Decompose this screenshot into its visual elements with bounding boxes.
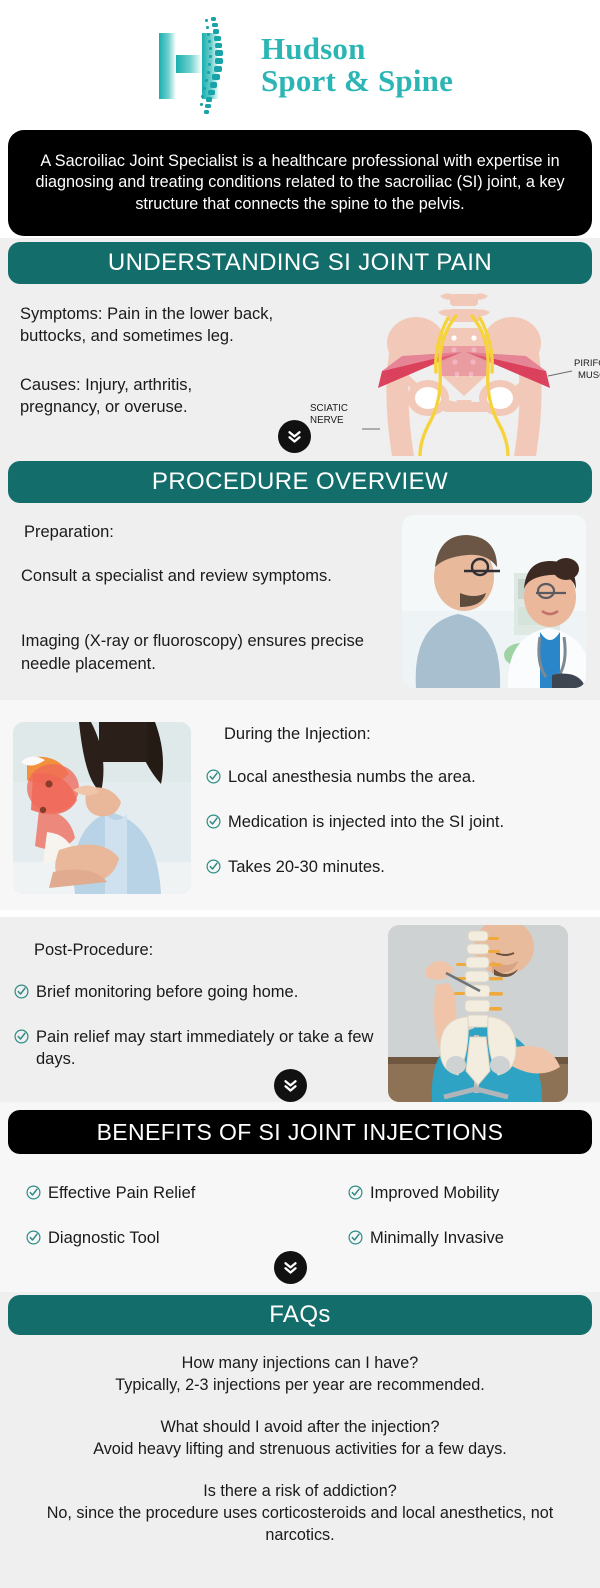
- section-header-procedure: PROCEDURE OVERVIEW: [8, 461, 592, 503]
- faq-entry-1: How many injections can I have? Typicall…: [0, 1352, 600, 1396]
- during-injection-item-1: Local anesthesia numbs the area.: [206, 766, 594, 788]
- intro-text: A Sacroiliac Joint Specialist is a healt…: [24, 151, 576, 216]
- during-injection-item-2: Medication is injected into the SI joint…: [206, 811, 594, 833]
- post-procedure-heading: Post-Procedure:: [34, 939, 153, 962]
- section-header-faqs: FAQs: [8, 1295, 592, 1335]
- label-sciatic-line2: NERVE: [310, 415, 348, 427]
- section-title: UNDERSTANDING SI JOINT PAIN: [108, 249, 492, 277]
- circled-check-icon: [14, 1029, 29, 1044]
- symptoms-line-1: Symptoms: Pain in the lower back,: [20, 303, 370, 326]
- item-label: Local anesthesia numbs the area.: [228, 766, 476, 788]
- causes-line-1: Causes: Injury, arthritis,: [20, 374, 370, 397]
- pelvis-anatomy-diagram: PIRIFORMIS MUSCLE: [362, 288, 600, 456]
- item-label: Takes 20-30 minutes.: [228, 856, 385, 878]
- item-label: Diagnostic Tool: [48, 1227, 160, 1249]
- section-title: BENEFITS OF SI JOINT INJECTIONS: [97, 1119, 504, 1146]
- label-piriformis-line2: MUSCLE: [578, 370, 600, 381]
- circled-check-icon: [206, 769, 221, 784]
- brand-line-1: Hudson: [261, 33, 453, 65]
- item-label: Pain relief may start immediately or tak…: [36, 1026, 386, 1070]
- during-injection-heading: During the Injection:: [224, 723, 371, 746]
- label-piriformis-line1: PIRIFORMIS: [574, 358, 600, 369]
- label-sciatic-nerve: SCIATIC NERVE: [310, 403, 348, 427]
- circled-check-icon: [348, 1185, 363, 1200]
- item-label: Effective Pain Relief: [48, 1182, 195, 1204]
- scroll-down-arrow-3[interactable]: [274, 1251, 307, 1284]
- post-procedure-item-2: Pain relief may start immediately or tak…: [14, 1026, 386, 1070]
- intro-card: A Sacroiliac Joint Specialist is a healt…: [8, 130, 592, 236]
- circled-check-icon: [348, 1230, 363, 1245]
- post-procedure-item-1: Brief monitoring before going home.: [14, 981, 386, 1003]
- scroll-down-arrow-1[interactable]: [278, 420, 311, 453]
- faq-answer: No, since the procedure uses corticoster…: [0, 1502, 600, 1546]
- spine-h-logo-icon: [147, 15, 257, 115]
- faq-answer: Typically, 2-3 injections per year are r…: [0, 1374, 600, 1396]
- circled-check-icon: [26, 1185, 41, 1200]
- doctor-patient-consultation-photo: [402, 515, 586, 688]
- faq-entry-3: Is there a risk of addiction? No, since …: [0, 1480, 600, 1546]
- section-title: FAQs: [269, 1301, 331, 1329]
- doctor-pointing-joint-model-photo: [13, 722, 191, 894]
- benefit-item-4: Minimally Invasive: [348, 1227, 598, 1249]
- section-header-understanding: UNDERSTANDING SI JOINT PAIN: [8, 242, 592, 284]
- faq-question: How many injections can I have?: [0, 1352, 600, 1374]
- circled-check-icon: [14, 984, 29, 999]
- preparation-paragraph-2: Imaging (X-ray or fluoroscopy) ensures p…: [21, 630, 393, 676]
- faq-question: Is there a risk of addiction?: [0, 1480, 600, 1502]
- scroll-down-arrow-2[interactable]: [274, 1069, 307, 1102]
- infographic-page: Hudson Sport & Spine A Sacroiliac Joint …: [0, 0, 600, 1588]
- item-label: Improved Mobility: [370, 1182, 499, 1204]
- faq-entry-2: What should I avoid after the injection?…: [0, 1416, 600, 1460]
- section-header-benefits: BENEFITS OF SI JOINT INJECTIONS: [8, 1110, 592, 1154]
- label-sciatic-line1: SCIATIC: [310, 403, 348, 415]
- circled-check-icon: [206, 859, 221, 874]
- benefit-item-3: Diagnostic Tool: [26, 1227, 296, 1249]
- item-label: Brief monitoring before going home.: [36, 981, 298, 1003]
- faq-answer: Avoid heavy lifting and strenuous activi…: [0, 1438, 600, 1460]
- circled-check-icon: [26, 1230, 41, 1245]
- during-injection-item-3: Takes 20-30 minutes.: [206, 856, 594, 878]
- spine-model-demonstration-photo: [388, 925, 568, 1102]
- logo-header: Hudson Sport & Spine: [0, 0, 600, 130]
- symptoms-line-2: buttocks, and sometimes leg.: [20, 325, 370, 348]
- preparation-heading: Preparation:: [24, 521, 364, 544]
- item-label: Medication is injected into the SI joint…: [228, 811, 504, 833]
- faq-question: What should I avoid after the injection?: [0, 1416, 600, 1438]
- brand-line-2: Sport & Spine: [261, 65, 453, 97]
- benefit-item-1: Effective Pain Relief: [26, 1182, 296, 1204]
- section-title: PROCEDURE OVERVIEW: [152, 468, 448, 496]
- brand-wordmark: Hudson Sport & Spine: [261, 33, 453, 96]
- brand-logo: Hudson Sport & Spine: [147, 15, 453, 115]
- preparation-paragraph-1: Consult a specialist and review symptoms…: [21, 565, 351, 588]
- item-label: Minimally Invasive: [370, 1227, 504, 1249]
- benefit-item-2: Improved Mobility: [348, 1182, 598, 1204]
- circled-check-icon: [206, 814, 221, 829]
